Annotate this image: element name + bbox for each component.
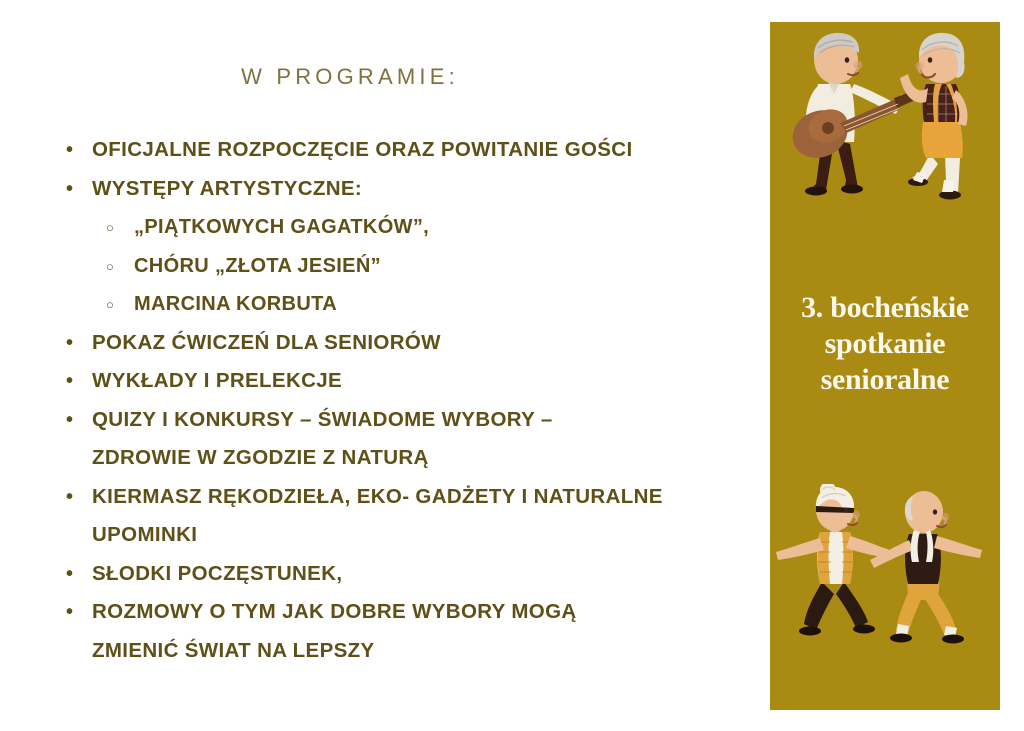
- sub-bullet-icon: ○: [106, 208, 114, 248]
- program-sub-item: ○MARCINA KORBUTA: [58, 285, 770, 324]
- program-item-line: ZDROWIE W ZGODZIE Z NATURĄ: [92, 439, 770, 478]
- program-item-line: MARCINA KORBUTA: [134, 293, 337, 315]
- program-item-line: UPOMINKI: [92, 516, 770, 555]
- program-list: •OFICJALNE ROZPOCZĘCIE ORAZ POWITANIE GO…: [58, 131, 770, 670]
- program-item-line: KIERMASZ RĘKODZIEŁA, EKO- GADŻETY I NATU…: [92, 485, 663, 508]
- program-item-line: OFICJALNE ROZPOCZĘCIE ORAZ POWITANIE GOŚ…: [92, 138, 633, 161]
- bullet-icon: •: [66, 324, 73, 363]
- program-item-line: „PIĄTKOWYCH GAGATKÓW”,: [134, 216, 429, 238]
- program-item-text: KIERMASZ RĘKODZIEŁA, EKO- GADŻETY I NATU…: [92, 478, 770, 555]
- program-item-text: MARCINA KORBUTA: [134, 285, 770, 324]
- program-item: •WYSTĘPY ARTYSTYCZNE:: [58, 170, 770, 209]
- bullet-icon: •: [66, 478, 73, 517]
- program-item-line: POKAZ ĆWICZEŃ DLA SENIORÓW: [92, 331, 441, 354]
- program-item-text: WYSTĘPY ARTYSTYCZNE:: [92, 170, 770, 209]
- bullet-icon: •: [66, 131, 73, 170]
- program-item-line: ROZMOWY O TYM JAK DOBRE WYBORY MOGĄ: [92, 600, 577, 623]
- panel-title-line-3: senioralne: [770, 362, 1000, 398]
- bullet-icon: •: [66, 362, 73, 401]
- program-item: •QUIZY I KONKURSY – ŚWIADOME WYBORY –ZDR…: [58, 401, 770, 478]
- slide-canvas: W PROGRAMIE: •OFICJALNE ROZPOCZĘCIE ORAZ…: [0, 0, 1024, 731]
- bullet-icon: •: [66, 555, 73, 594]
- seniors-exercising-illustration: [770, 484, 1000, 664]
- program-item-text: „PIĄTKOWYCH GAGATKÓW”,: [134, 208, 770, 247]
- program-sub-item: ○CHÓRU „ZŁOTA JESIEŃ”: [58, 247, 770, 286]
- program-item: •OFICJALNE ROZPOCZĘCIE ORAZ POWITANIE GO…: [58, 131, 770, 170]
- program-item-text: POKAZ ĆWICZEŃ DLA SENIORÓW: [92, 324, 770, 363]
- program-item-line: QUIZY I KONKURSY – ŚWIADOME WYBORY –: [92, 408, 553, 431]
- program-item: •WYKŁADY I PRELEKCJE: [58, 362, 770, 401]
- program-item-text: ROZMOWY O TYM JAK DOBRE WYBORY MOGĄZMIEN…: [92, 593, 770, 670]
- program-item-line: WYSTĘPY ARTYSTYCZNE:: [92, 177, 362, 200]
- program-item-text: CHÓRU „ZŁOTA JESIEŃ”: [134, 247, 770, 286]
- program-item: •SŁODKI POCZĘSTUNEK,: [58, 555, 770, 594]
- panel-title-line-1: 3. bocheńskie: [770, 290, 1000, 326]
- program-item: •POKAZ ĆWICZEŃ DLA SENIORÓW: [58, 324, 770, 363]
- program-item-text: SŁODKI POCZĘSTUNEK,: [92, 555, 770, 594]
- program-item-line: SŁODKI POCZĘSTUNEK,: [92, 562, 342, 585]
- gold-side-panel: 3. bocheńskie spotkanie senioralne: [770, 22, 1000, 710]
- program-item-text: QUIZY I KONKURSY – ŚWIADOME WYBORY –ZDRO…: [92, 401, 770, 478]
- program-sub-item: ○„PIĄTKOWYCH GAGATKÓW”,: [58, 208, 770, 247]
- program-item-line: CHÓRU „ZŁOTA JESIEŃ”: [134, 255, 381, 277]
- program-item: •ROZMOWY O TYM JAK DOBRE WYBORY MOGĄZMIE…: [58, 593, 770, 670]
- bullet-icon: •: [66, 170, 73, 209]
- panel-title: 3. bocheńskie spotkanie senioralne: [770, 290, 1000, 398]
- page-title: W PROGRAMIE:: [0, 64, 700, 90]
- program-item-text: WYKŁADY I PRELEKCJE: [92, 362, 770, 401]
- bullet-icon: •: [66, 593, 73, 632]
- sub-bullet-icon: ○: [106, 247, 114, 287]
- senior-couple-music-illustration: [770, 22, 1000, 207]
- program-item-line: ZMIENIĆ ŚWIAT NA LEPSZY: [92, 632, 770, 671]
- program-item: •KIERMASZ RĘKODZIEŁA, EKO- GADŻETY I NAT…: [58, 478, 770, 555]
- program-item-text: OFICJALNE ROZPOCZĘCIE ORAZ POWITANIE GOŚ…: [92, 131, 770, 170]
- program-item-line: WYKŁADY I PRELEKCJE: [92, 369, 342, 392]
- program-content-column: W PROGRAMIE: •OFICJALNE ROZPOCZĘCIE ORAZ…: [0, 0, 770, 731]
- bullet-icon: •: [66, 401, 73, 440]
- panel-title-line-2: spotkanie: [770, 326, 1000, 362]
- sub-bullet-icon: ○: [106, 285, 114, 325]
